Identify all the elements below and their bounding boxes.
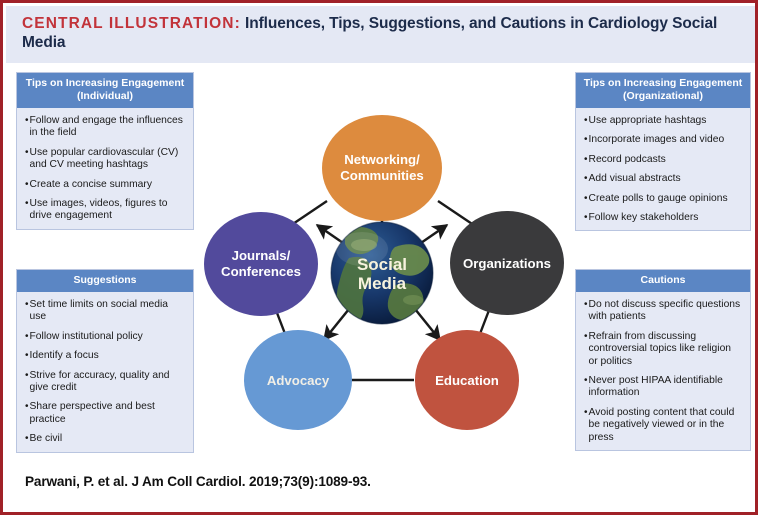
node-organizations-label: Organizations — [463, 256, 551, 271]
node-networking-label-line1: Networking/ — [344, 152, 420, 167]
bullet-icon: • — [584, 173, 588, 185]
list-item: • Use popular cardiovascular (CV) and CV… — [25, 147, 186, 172]
bullet-icon: • — [584, 134, 588, 146]
panel-tips-organizational-body: • Use appropriate hashtags • Incorporate… — [576, 108, 750, 230]
central-illustration-label: CENTRAL ILLUSTRATION: — [22, 15, 241, 32]
title-band: CENTRAL ILLUSTRATION: Influences, Tips, … — [6, 6, 758, 63]
panel-suggestions-heading: Suggestions — [17, 270, 193, 292]
list-item: • Never post HIPAA identifiable informat… — [584, 375, 743, 400]
list-item-label: Identify a focus — [30, 350, 186, 362]
list-item: • Use appropriate hashtags — [584, 115, 743, 127]
list-item-label: Strive for accuracy, quality and give cr… — [30, 370, 186, 395]
list-item-label: Incorporate images and video — [589, 134, 743, 146]
node-education[interactable]: Education — [415, 330, 519, 430]
list-item-label: Record podcasts — [589, 154, 743, 166]
panel-tips-individual: Tips on Increasing Engagement (Individua… — [16, 72, 194, 230]
list-item-label: Never post HIPAA identifiable informatio… — [589, 375, 743, 400]
arrow-to-advocacy — [324, 309, 349, 340]
list-item: • Share perspective and best practice — [25, 401, 186, 426]
list-item: • Follow institutional policy — [25, 331, 186, 343]
bullet-icon: • — [584, 407, 588, 419]
bullet-icon: • — [584, 154, 588, 166]
node-advocacy[interactable]: Advocacy — [244, 330, 352, 430]
node-networking[interactable]: Networking/ Communities — [322, 115, 442, 221]
arrow-to-education — [415, 309, 440, 340]
center-label-line1: Social — [357, 255, 407, 274]
bullet-icon: • — [584, 212, 588, 224]
list-item: • Record podcasts — [584, 154, 743, 166]
panel-tips-organizational: Tips on Increasing Engagement (Organizat… — [575, 72, 751, 231]
node-advocacy-label: Advocacy — [267, 373, 330, 388]
list-item-label: Add visual abstracts — [589, 173, 743, 185]
citation: Parwani, P. et al. J Am Coll Cardiol. 20… — [25, 474, 371, 489]
list-item-label: Avoid posting content that could be nega… — [589, 407, 743, 444]
bullet-icon: • — [25, 179, 29, 191]
bullet-icon: • — [584, 115, 588, 127]
panel-suggestions-body: • Set time limits on social media use • … — [17, 292, 193, 452]
list-item-label: Use appropriate hashtags — [589, 115, 743, 127]
list-item-label: Set time limits on social media use — [30, 299, 186, 324]
list-item-label: Use images, videos, figures to drive eng… — [30, 198, 186, 223]
list-item-label: Create polls to gauge opinions — [589, 193, 743, 205]
list-item-label: Share perspective and best practice — [30, 401, 186, 426]
node-journals-label-line1: Journals/ — [232, 248, 291, 263]
list-item-label: Follow institutional policy — [30, 331, 186, 343]
social-media-hub-diagram: Networking/ Communities Organizations Ed… — [199, 108, 565, 438]
bullet-icon: • — [25, 299, 29, 311]
node-education-label: Education — [435, 373, 499, 388]
panel-cautions: Cautions • Do not discuss specific quest… — [575, 269, 751, 451]
list-item-label: Follow key stakeholders — [589, 212, 743, 224]
node-networking-label-line2: Communities — [340, 168, 424, 183]
panel-tips-individual-heading: Tips on Increasing Engagement (Individua… — [17, 73, 193, 108]
central-illustration-figure: CENTRAL ILLUSTRATION: Influences, Tips, … — [0, 0, 758, 515]
node-journals[interactable]: Journals/ Conferences — [204, 212, 318, 316]
page-title: CENTRAL ILLUSTRATION: Influences, Tips, … — [22, 14, 742, 52]
bullet-icon: • — [25, 115, 29, 127]
bullet-icon: • — [25, 147, 29, 159]
list-item-label: Use popular cardiovascular (CV) and CV m… — [30, 147, 186, 172]
bullet-icon: • — [584, 375, 588, 387]
list-item: • Follow and engage the influences in th… — [25, 115, 186, 140]
list-item-label: Follow and engage the influences in the … — [30, 115, 186, 140]
list-item: • Add visual abstracts — [584, 173, 743, 185]
list-item: • Set time limits on social media use — [25, 299, 186, 324]
bullet-icon: • — [25, 370, 29, 382]
list-item: • Do not discuss specific questions with… — [584, 299, 743, 324]
bullet-icon: • — [25, 331, 29, 343]
center-label: Social Media — [357, 255, 407, 293]
list-item: • Use images, videos, figures to drive e… — [25, 198, 186, 223]
bullet-icon: • — [25, 198, 29, 210]
node-organizations[interactable]: Organizations — [450, 211, 564, 315]
list-item: • Incorporate images and video — [584, 134, 743, 146]
list-item: • Avoid posting content that could be ne… — [584, 407, 743, 444]
panel-suggestions: Suggestions • Set time limits on social … — [16, 269, 194, 453]
list-item-label: Refrain from discussing controversial to… — [589, 331, 743, 368]
list-item: • Strive for accuracy, quality and give … — [25, 370, 186, 395]
panel-tips-organizational-heading: Tips on Increasing Engagement (Organizat… — [576, 73, 750, 108]
panel-tips-individual-body: • Follow and engage the influences in th… — [17, 108, 193, 229]
bullet-icon: • — [584, 193, 588, 205]
bullet-icon: • — [25, 433, 29, 445]
list-item: • Follow key stakeholders — [584, 212, 743, 224]
list-item-label: Be civil — [30, 433, 186, 445]
list-item: • Be civil — [25, 433, 186, 445]
bullet-icon: • — [584, 299, 588, 311]
bullet-icon: • — [25, 401, 29, 413]
list-item-label: Create a concise summary — [30, 179, 186, 191]
list-item: • Identify a focus — [25, 350, 186, 362]
node-journals-label-line2: Conferences — [221, 264, 301, 279]
panel-cautions-heading: Cautions — [576, 270, 750, 292]
list-item-label: Do not discuss specific questions with p… — [589, 299, 743, 324]
list-item: • Create polls to gauge opinions — [584, 193, 743, 205]
bullet-icon: • — [25, 350, 29, 362]
list-item: • Create a concise summary — [25, 179, 186, 191]
bullet-icon: • — [584, 331, 588, 343]
panel-cautions-body: • Do not discuss specific questions with… — [576, 292, 750, 450]
list-item: • Refrain from discussing controversial … — [584, 331, 743, 368]
center-label-line2: Media — [358, 274, 407, 293]
